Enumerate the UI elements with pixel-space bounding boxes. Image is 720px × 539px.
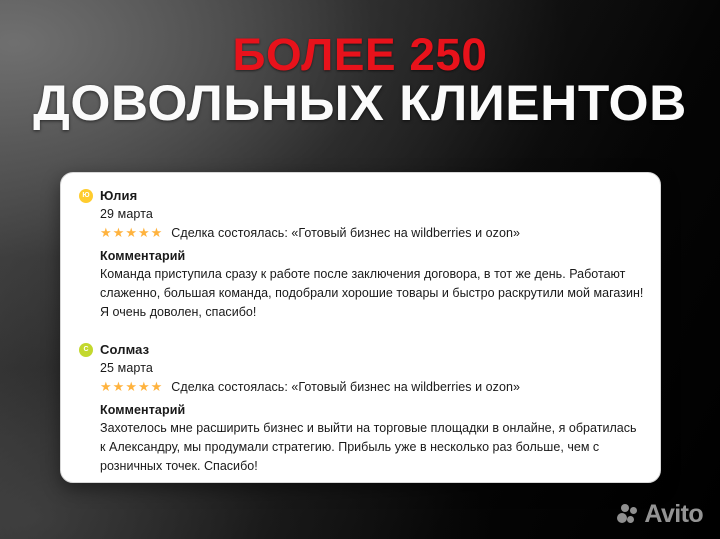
poster-canvas: БОЛЕЕ 250 ДОВОЛЬНЫХ КЛИЕНТОВ Ю Юлия 29 м… [0, 0, 720, 539]
star-icon: ★ [100, 226, 112, 239]
review-rating-row: ★ ★ ★ ★ ★ Сделка состоялась: «Готовый би… [100, 379, 640, 394]
star-icon: ★ [151, 380, 163, 393]
star-icon: ★ [113, 380, 125, 393]
headline-line-secondary: ДОВОЛЬНЫХ КЛИЕНТОВ [0, 80, 720, 127]
reviewer-name: Солмаз [100, 342, 149, 357]
review-header: С Солмаз [79, 341, 640, 358]
star-icon: ★ [138, 226, 150, 239]
comment-label: Комментарий [100, 249, 640, 263]
review-date: 29 марта [100, 207, 640, 221]
deal-text: Сделка состоялась: «Готовый бизнес на wi… [171, 226, 520, 240]
star-icon: ★ [125, 380, 137, 393]
avito-dots-logo-icon [617, 504, 639, 525]
review-rating-row: ★ ★ ★ ★ ★ Сделка состоялась: «Готовый би… [100, 225, 640, 240]
headline-line-primary: БОЛЕЕ 250 [0, 34, 720, 76]
star-icon: ★ [125, 226, 137, 239]
star-icon: ★ [138, 380, 150, 393]
reviews-card: Ю Юлия 29 марта ★ ★ ★ ★ ★ Сделка состоял… [60, 172, 661, 483]
review-header: Ю Юлия [79, 187, 640, 204]
comment-body: Захотелось мне расширить бизнес и выйти … [100, 419, 645, 476]
avatar: Ю [79, 189, 93, 203]
avito-wordmark: Avito [644, 502, 703, 527]
star-icon: ★ [113, 226, 125, 239]
deal-text: Сделка состоялась: «Готовый бизнес на wi… [171, 380, 520, 394]
rating-stars: ★ ★ ★ ★ ★ [100, 380, 162, 393]
comment-body: Команда приступила сразу к работе после … [100, 265, 645, 322]
review-item: Ю Юлия 29 марта ★ ★ ★ ★ ★ Сделка состоял… [79, 187, 640, 322]
review-date: 25 марта [100, 361, 640, 375]
rating-stars: ★ ★ ★ ★ ★ [100, 226, 162, 239]
avatar: С [79, 343, 93, 357]
reviewer-name: Юлия [100, 188, 137, 203]
comment-label: Комментарий [100, 403, 640, 417]
star-icon: ★ [151, 226, 163, 239]
star-icon: ★ [100, 380, 112, 393]
avito-watermark: Avito [617, 502, 703, 527]
review-item: С Солмаз 25 марта ★ ★ ★ ★ ★ Сделка состо… [79, 341, 640, 476]
page-title: БОЛЕЕ 250 ДОВОЛЬНЫХ КЛИЕНТОВ [0, 34, 720, 127]
